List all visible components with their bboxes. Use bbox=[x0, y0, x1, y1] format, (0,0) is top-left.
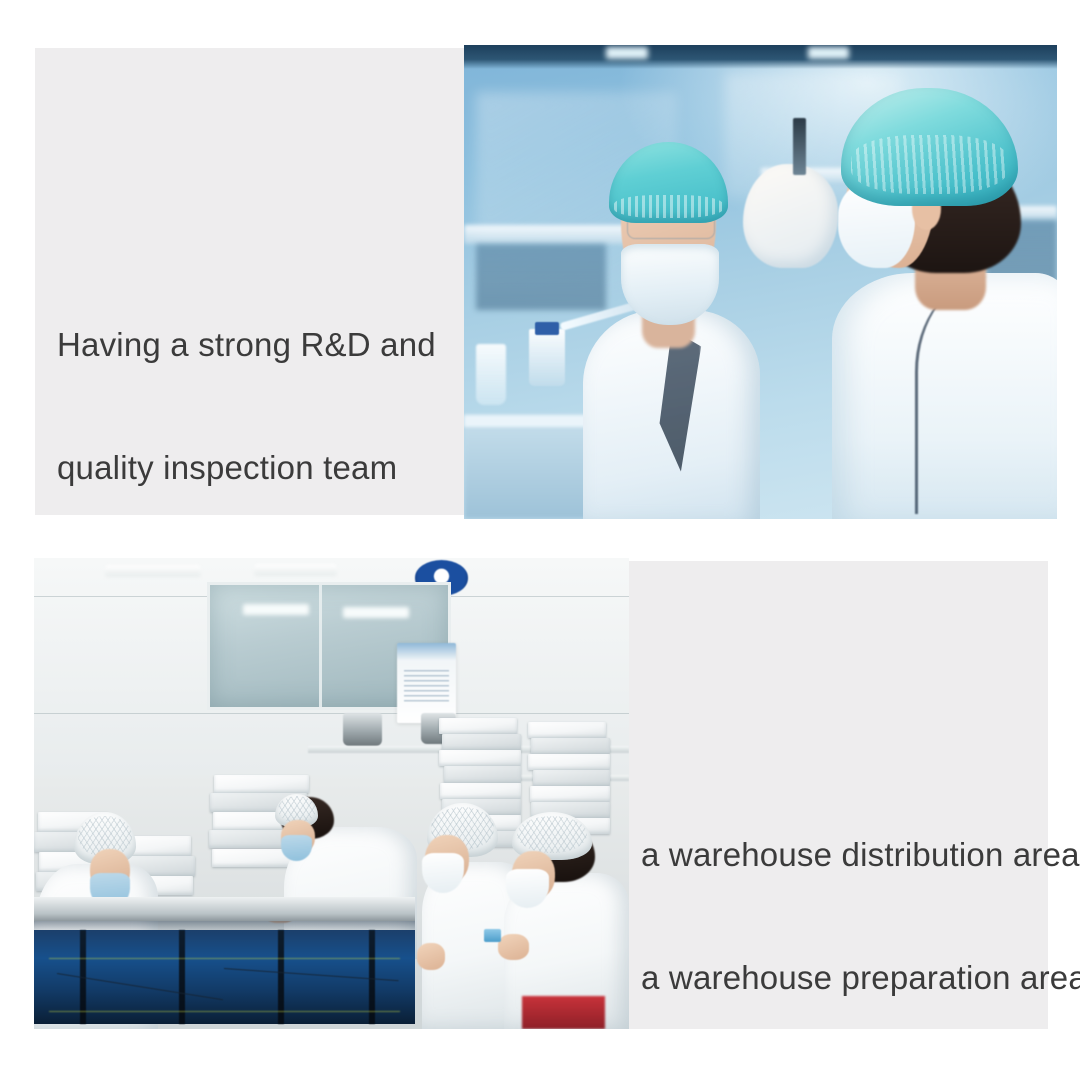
warehouse-wall-poster bbox=[397, 643, 457, 723]
lab-glassware bbox=[476, 344, 506, 406]
warehouse-steel-pot bbox=[343, 713, 382, 746]
warehouse-box bbox=[442, 734, 521, 750]
lab-shelf-unit bbox=[476, 244, 606, 310]
lab-quality-inspection-photo bbox=[464, 45, 1057, 519]
warehouse-box bbox=[531, 738, 610, 754]
warehouse-table-frame bbox=[34, 930, 415, 1024]
warehouse-floor-marking bbox=[522, 996, 605, 1029]
warehouse-ceiling-light bbox=[254, 564, 337, 576]
warehouse-table-rail bbox=[49, 1011, 399, 1012]
warehouse-window-light bbox=[343, 607, 410, 618]
warehouse-window-mullion bbox=[319, 585, 322, 707]
warehouse-box bbox=[530, 786, 610, 802]
warehouse-box bbox=[439, 750, 521, 766]
warehouse-table-rail bbox=[49, 958, 399, 959]
warehouse-worker-3-hand bbox=[417, 943, 446, 970]
warehouse-blue-label bbox=[484, 929, 501, 942]
warehouse-worker-4-hand bbox=[498, 934, 529, 960]
warehouse-caption-line-2: a warehouse preparation area bbox=[641, 957, 1041, 998]
lab-ceiling-light bbox=[808, 47, 850, 59]
lab-ceiling bbox=[464, 45, 1057, 69]
warehouse-box bbox=[528, 754, 610, 770]
lab-sample-vial bbox=[793, 118, 806, 175]
warehouse-wall-seam bbox=[34, 713, 629, 714]
warehouse-caption-line-1: a warehouse distribution area bbox=[641, 834, 1041, 875]
warehouse-box bbox=[444, 766, 521, 782]
warehouse-box bbox=[439, 718, 518, 734]
warehouse-box bbox=[533, 770, 610, 786]
lab-beaker bbox=[529, 329, 565, 386]
warehouse-box bbox=[440, 783, 520, 799]
lab-shelf bbox=[464, 225, 630, 244]
lab-ceiling-light bbox=[606, 47, 648, 59]
warehouse-caption: a warehouse distribution area a warehous… bbox=[641, 752, 1041, 1080]
rd-quality-caption-line-2: quality inspection team bbox=[57, 447, 457, 488]
page-canvas: Having a strong R&D and quality inspecti… bbox=[0, 0, 1080, 1080]
warehouse-packing-photo bbox=[34, 558, 629, 1029]
warehouse-ceiling-light bbox=[105, 565, 200, 577]
rd-quality-caption-line-1: Having a strong R&D and bbox=[57, 324, 457, 365]
warehouse-box bbox=[528, 722, 607, 738]
lab-gloved-hand bbox=[743, 164, 838, 268]
warehouse-box bbox=[214, 775, 308, 793]
lab-technician-2-coat-trim bbox=[915, 277, 1037, 514]
lab-beaker-cap bbox=[535, 322, 559, 334]
warehouse-steel-table-top bbox=[34, 897, 415, 921]
rd-quality-caption: Having a strong R&D and quality inspecti… bbox=[57, 242, 457, 570]
warehouse-window-light bbox=[243, 604, 310, 615]
